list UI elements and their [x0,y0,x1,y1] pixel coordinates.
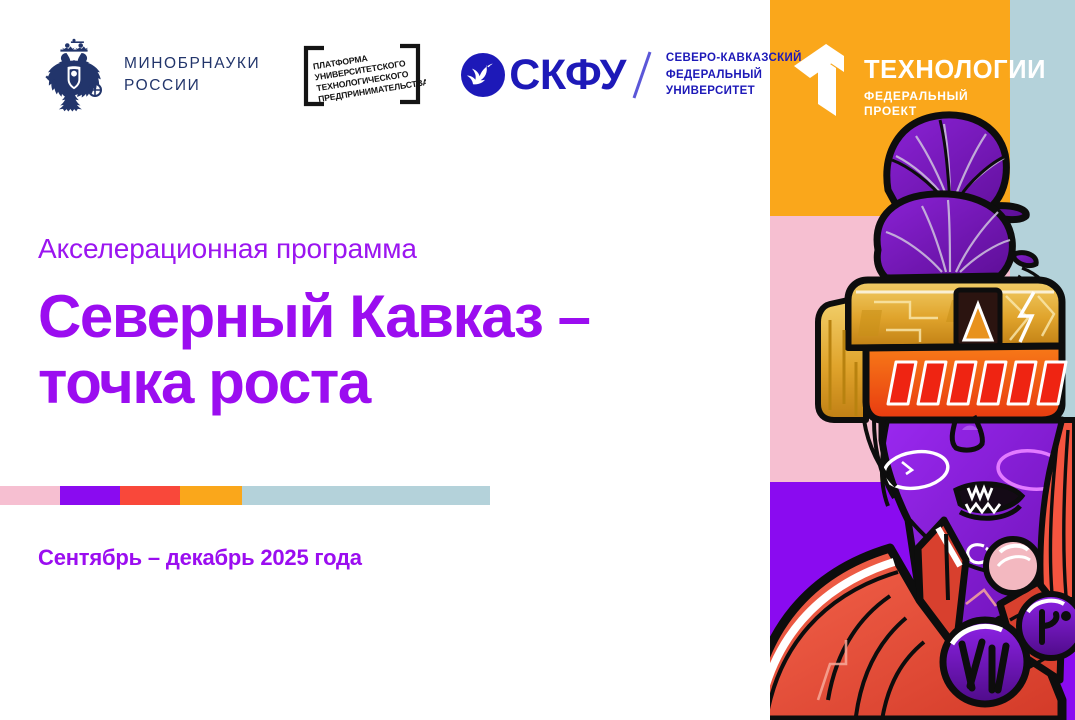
presentation-slide: МИНОБРНАУКИ РОССИИ ПЛАТФОРМА УНИВЕРСИТЕТ… [0,0,1075,720]
diagonal-slash-icon [628,49,656,101]
square-brackets-icon: ПЛАТФОРМА УНИВЕРСИТЕТСКОГО ТЕХНОЛОГИЧЕСК… [298,38,426,112]
skfu-wordmark: СКФУ [509,54,626,97]
platform-logo: ПЛАТФОРМА УНИВЕРСИТЕТСКОГО ТЕХНОЛОГИЧЕСК… [298,38,426,112]
federal-project-subtitle: ФЕДЕРАЛЬНЫЙ ПРОЕКТ [864,89,1046,119]
decorative-color-rule [0,486,490,505]
rule-segment-5 [242,486,490,505]
skfu-logo: СКФУ СЕВЕРО-КАВКАЗСКИЙ ФЕДЕРАЛЬНЫЙ УНИВЕ… [461,49,801,101]
federal-project-logo: ТЕХНОЛОГИИ ФЕДЕРАЛЬНЫЙ ПРОЕКТ [792,42,1046,120]
technologies-arrow-one-icon [792,42,858,120]
logo-bar: МИНОБРНАУКИ РОССИИ ПЛАТФОРМА УНИВЕРСИТЕТ… [38,38,802,112]
rule-segment-3 [120,486,180,505]
russian-double-headed-eagle-icon [38,38,110,112]
artwork-panel: ТЕХНОЛОГИИ ФЕДЕРАЛЬНЫЙ ПРОЕКТ [770,0,1075,720]
slide-text-content: Акселерационная программа Северный Кавка… [38,232,738,416]
rule-segment-1 [0,486,60,505]
program-dates: Сентябрь – декабрь 2025 года [38,545,362,571]
program-eyebrow: Акселерационная программа [38,232,738,266]
minobrnauki-logo: МИНОБРНАУКИ РОССИИ [38,38,260,112]
page-title: Северный Кавказ – точка роста [38,284,738,416]
minobrnauki-label: МИНОБРНАУКИ РОССИИ [124,53,260,97]
skfu-subtitle: СЕВЕРО-КАВКАЗСКИЙ ФЕДЕРАЛЬНЫЙ УНИВЕРСИТЕ… [666,50,802,100]
federal-project-title: ТЕХНОЛОГИИ [864,58,1046,84]
rule-segment-2 [60,486,120,505]
skfu-bird-circle-icon [461,53,505,97]
rule-segment-4 [180,486,242,505]
